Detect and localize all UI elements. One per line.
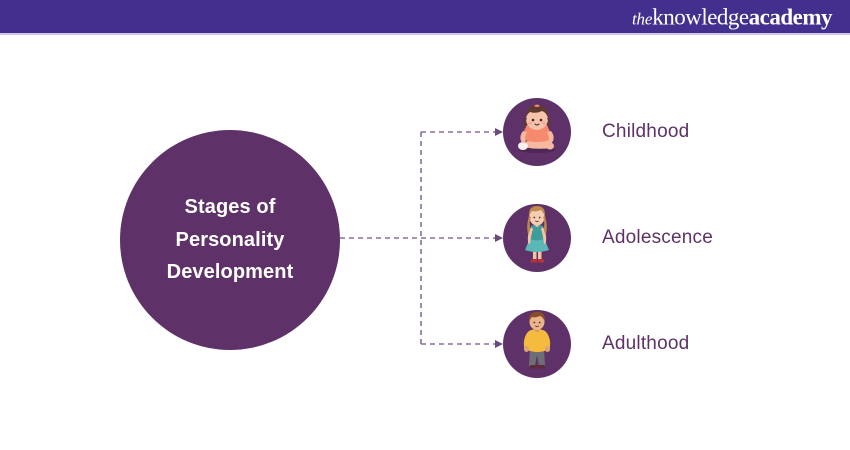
stages-diagram: Stages of Personality Development — [0, 35, 850, 450]
brand-logo-knowledge: knowledge — [652, 4, 748, 29]
header-bar: theknowledgeacademy — [0, 0, 850, 33]
child-sitting-icon — [503, 98, 571, 166]
stage-item-adolescence[interactable]: Adolescence — [503, 204, 833, 272]
arrowhead-childhood — [495, 128, 503, 136]
stage-label-adulthood: Adulthood — [602, 333, 689, 355]
teen-girl-standing-icon — [503, 204, 571, 272]
stage-item-adulthood[interactable]: Adulthood — [503, 310, 833, 378]
brand-logo: theknowledgeacademy — [632, 5, 832, 28]
arrowhead-adulthood — [495, 340, 503, 348]
brand-logo-the: the — [632, 9, 652, 28]
stage-label-childhood: Childhood — [602, 121, 689, 143]
stage-label-adolescence: Adolescence — [602, 227, 713, 249]
arrowhead-adolescence — [495, 234, 503, 242]
stage-item-childhood[interactable]: Childhood — [503, 98, 833, 166]
hub-circle: Stages of Personality Development — [120, 130, 340, 350]
adult-man-standing-icon — [503, 310, 571, 378]
brand-logo-academy: academy — [749, 4, 832, 29]
hub-title: Stages of Personality Development — [153, 191, 308, 288]
